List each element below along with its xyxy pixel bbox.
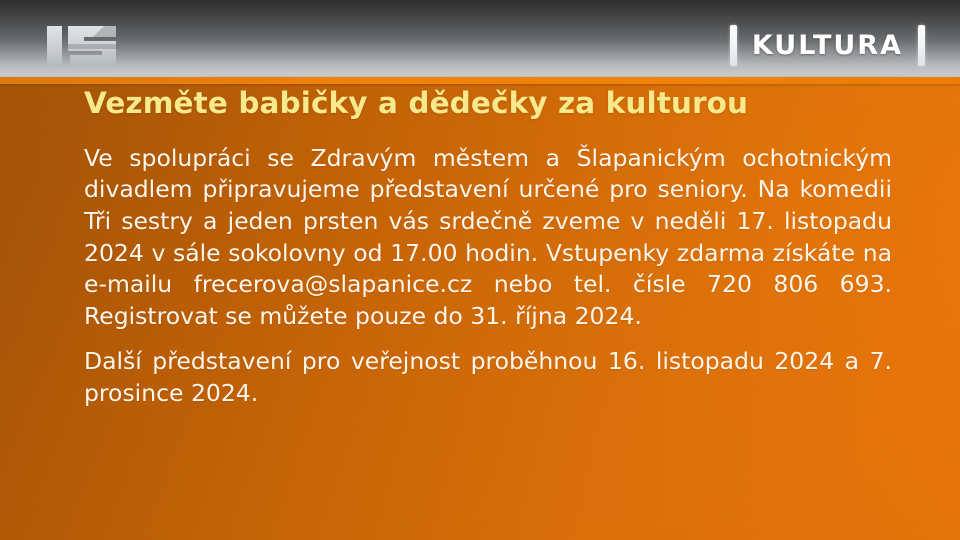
vertical-bar-right-icon [918,25,925,66]
brand-label: KULTURA [752,32,903,59]
is-logo [46,24,122,68]
slide-content: Vezměte babičky a dědečky za kulturou Ve… [84,86,892,410]
brand-kultura: KULTURA [730,23,925,67]
page-title: Vezměte babičky a dědečky za kulturou [84,86,892,121]
presentation-slide: KULTURA Vezměte babičky a dědečky za kul… [0,0,960,540]
body-paragraph-2: Další představení pro veřejnost proběhno… [84,346,892,409]
body-paragraph-1: Ve spolupráci se Zdravým městem a Šlapan… [84,143,892,333]
slide-header: KULTURA [0,0,960,77]
vertical-bar-left-icon [730,25,737,66]
header-accent-strip [0,77,960,84]
